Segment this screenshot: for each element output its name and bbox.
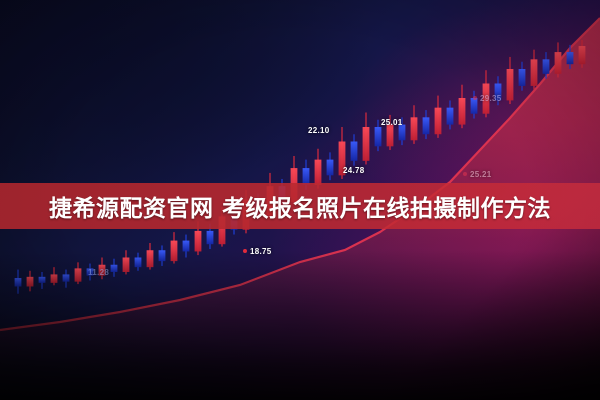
chart-data-label: 29.35 — [473, 94, 502, 103]
chart-data-label: 25.01 — [381, 118, 403, 127]
label-value-text: 24.78 — [343, 166, 365, 175]
label-value-text: 25.21 — [470, 170, 492, 179]
label-value-text: 25.01 — [381, 118, 403, 127]
chart-data-label: 18.75 — [243, 247, 272, 256]
label-marker-dot — [243, 249, 247, 253]
chart-data-label: 22.10 — [308, 126, 330, 135]
chart-data-label: 25.21 — [463, 170, 492, 179]
chart-data-label: 24.78 — [343, 166, 365, 175]
banner-title-text: 捷希源配资官网 考级报名照片在线拍摄制作方法 — [49, 189, 551, 223]
stock-chart-banner-image: 11.2818.7522.1024.7825.0129.3525.21 捷希源配… — [0, 0, 600, 400]
label-marker-dot — [473, 96, 477, 100]
label-value-text: 11.28 — [88, 268, 109, 277]
chart-data-label: 11.28 — [88, 268, 109, 277]
label-marker-dot — [463, 172, 467, 176]
label-value-text: 29.35 — [480, 94, 502, 103]
label-value-text: 18.75 — [250, 247, 272, 256]
label-value-text: 22.10 — [308, 126, 330, 135]
title-banner: 捷希源配资官网 考级报名照片在线拍摄制作方法 — [0, 183, 600, 229]
